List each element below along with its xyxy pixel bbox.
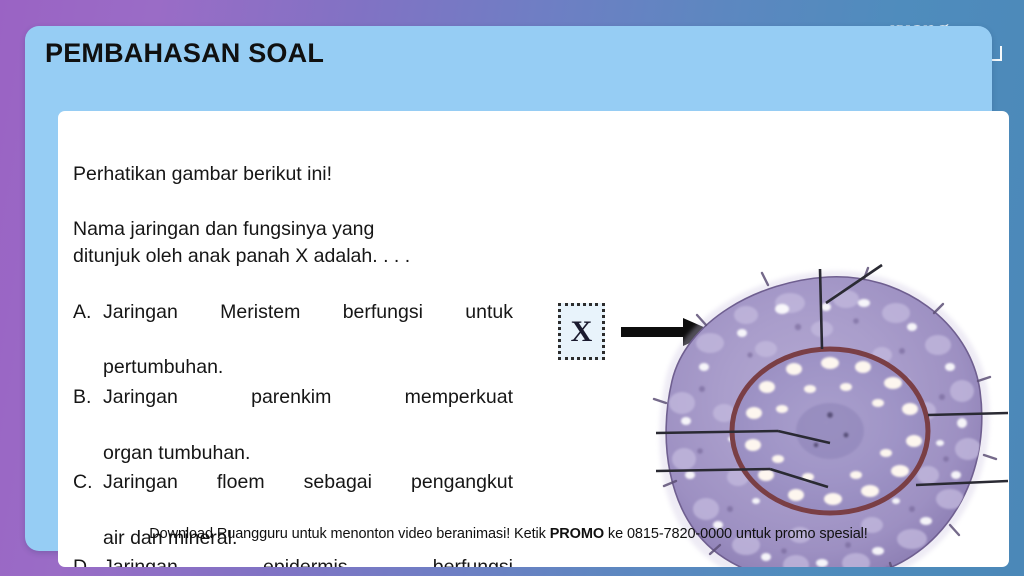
content-card: Perhatikan gambar berikut ini! Nama jari… [25, 26, 992, 551]
option-a-line-2: pertumbuhan. [103, 354, 513, 382]
white-content-sheet: Perhatikan gambar berikut ini! Nama jari… [58, 111, 1009, 567]
footer-promo-bar: Download Ruangguru untuk menonton video … [25, 517, 992, 551]
option-a-line-1: Jaringan Meristem berfungsi untuk [103, 299, 513, 354]
marker-x-label: X [571, 317, 593, 347]
option-d-text: Jaringan epidermis berfungsi melindungi … [103, 554, 513, 567]
option-d-line-1: Jaringan epidermis berfungsi [103, 554, 513, 567]
footer-promo-keyword: PROMO [550, 526, 604, 542]
question-prompt-line-2: ditunjuk oleh anak panah X adalah. . . . [73, 243, 513, 271]
question-prompt: Nama jaringan dan fungsinya yang ditunju… [73, 216, 513, 271]
option-d-key: D. [73, 554, 103, 567]
marker-x-box: X [558, 303, 605, 360]
option-a-key: A. [73, 299, 103, 327]
option-a-text: Jaringan Meristem berfungsi untuk pertum… [103, 299, 513, 382]
question-lead-text: Perhatikan gambar berikut ini! [73, 161, 513, 189]
option-b-line-1: Jaringan parenkim memperkuat [103, 384, 513, 439]
option-b-key: B. [73, 384, 103, 412]
option-c-key: C. [73, 469, 103, 497]
footer-promo-text: Download Ruangguru untuk menonton video … [149, 526, 867, 542]
answer-option-a[interactable]: A. Jaringan Meristem berfungsi untuk per… [73, 299, 513, 382]
question-column: Perhatikan gambar berikut ini! Nama jari… [73, 161, 513, 567]
answer-option-d[interactable]: D. Jaringan epidermis berfungsi melindun… [73, 554, 513, 567]
footer-text-before: Download Ruangguru untuk menonton video … [149, 526, 549, 542]
page-title: PEMBAHASAN SOAL [45, 38, 324, 69]
answer-option-b[interactable]: B. Jaringan parenkim memperkuat organ tu… [73, 384, 513, 467]
option-b-line-2: organ tumbuhan. [103, 440, 513, 468]
question-prompt-line-1: Nama jaringan dan fungsinya yang [73, 218, 374, 240]
option-b-text: Jaringan parenkim memperkuat organ tumbu… [103, 384, 513, 467]
slide-canvas: ruang guru Perhatikan gambar berikut ini… [0, 0, 1024, 576]
footer-text-after: ke 0815-7820-0000 untuk promo spesial! [604, 526, 868, 542]
